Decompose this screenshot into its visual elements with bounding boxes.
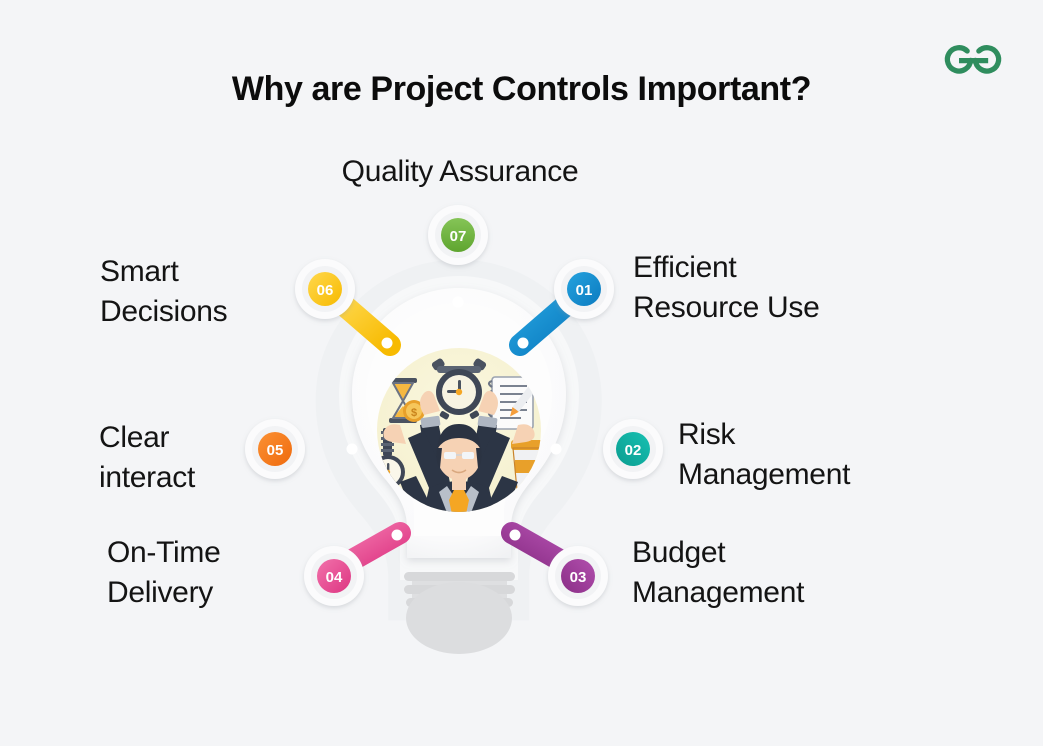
badge-03-number: 03: [570, 569, 587, 586]
connector-05: [296, 444, 358, 455]
badge-04-number: 04: [326, 569, 343, 586]
label-efficient-resource-use: Efficient Resource Use: [633, 248, 819, 327]
label-smart-decisions: Smart Decisions: [100, 252, 227, 331]
badge-01-number: 01: [576, 282, 593, 299]
badge-07-number: 07: [450, 228, 467, 245]
label-clear-interact: Clear interact: [99, 418, 195, 497]
badge-02-number: 02: [625, 442, 642, 459]
badge-05-number: 05: [267, 442, 284, 459]
label-risk-management: Risk Management: [678, 415, 850, 494]
svg-text:$: $: [411, 407, 417, 419]
bulb-base: [404, 572, 515, 654]
label-budget-management: Budget Management: [632, 533, 804, 612]
infographic-stage: $: [0, 0, 1043, 746]
badge-06-number: 06: [317, 282, 334, 299]
lightbulb-diagram: $: [0, 0, 1043, 746]
label-on-time-delivery: On-Time Delivery: [107, 533, 220, 612]
label-quality-assurance: Quality Assurance: [250, 152, 670, 192]
